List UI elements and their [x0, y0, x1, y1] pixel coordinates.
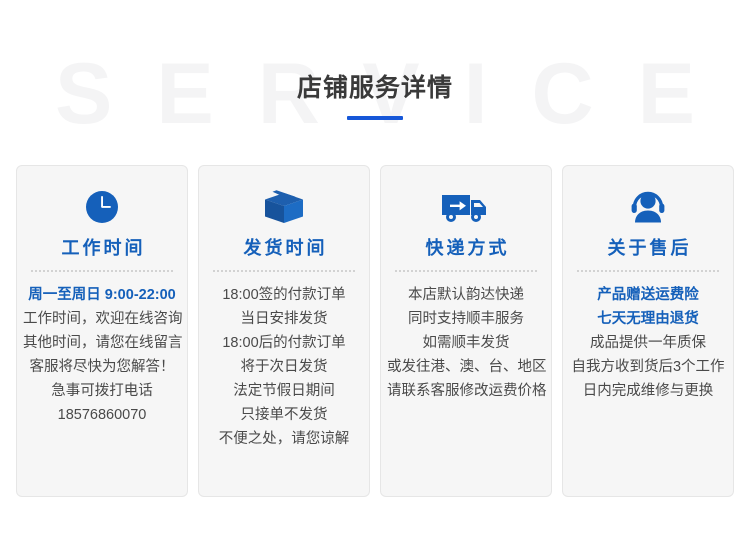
card-line: 成品提供一年质保: [569, 331, 727, 355]
card-body: 18:00签的付款订单 当日安排发货 18:00后的付款订单 将于次日发货 法定…: [205, 283, 363, 451]
card-title: 快递方式: [387, 236, 545, 260]
card-title: 工作时间: [23, 236, 181, 260]
card-line: 当日安排发货: [205, 307, 363, 331]
delivery-truck-icon: [387, 184, 545, 230]
clock-icon: [23, 184, 181, 230]
card-line: 日内完成维修与更换: [569, 379, 727, 403]
card-line: 只接单不发货: [205, 403, 363, 427]
card-line: 产品赠送运费险: [569, 283, 727, 307]
package-box-icon: [205, 184, 363, 230]
card-line: 周一至周日 9:00-22:00: [23, 283, 181, 307]
card-line: 法定节假日期间: [205, 379, 363, 403]
card-line: 18:00后的付款订单: [205, 331, 363, 355]
service-card-shipping-method: 快递方式 本店默认韵达快递 同时支持顺丰服务 如需顺丰发货 或发往港、澳、台、地…: [380, 165, 552, 497]
card-body: 周一至周日 9:00-22:00 工作时间，欢迎在线咨询 其他时间，请您在线留言…: [23, 283, 181, 427]
card-line: 客服将尽快为您解答！: [23, 355, 181, 379]
card-divider: [31, 270, 173, 272]
page-title-block: 店铺服务详情: [0, 72, 750, 120]
service-card-working-hours: 工作时间 周一至周日 9:00-22:00 工作时间，欢迎在线咨询 其他时间，请…: [16, 165, 188, 497]
card-line: 请联系客服修改运费价格: [387, 379, 545, 403]
card-title: 发货时间: [205, 236, 363, 260]
service-card-after-sales: 关于售后 产品赠送运费险 七天无理由退货 成品提供一年质保 自我方收到货后3个工…: [562, 165, 734, 497]
card-divider: [395, 270, 537, 272]
card-body: 产品赠送运费险 七天无理由退货 成品提供一年质保 自我方收到货后3个工作 日内完…: [569, 283, 727, 403]
card-line: 本店默认韵达快递: [387, 283, 545, 307]
card-line: 同时支持顺丰服务: [387, 307, 545, 331]
headset-support-icon: [569, 184, 727, 230]
page-header: SERVICE 店铺服务详情: [0, 0, 750, 150]
card-line: 急事可拨打电话: [23, 379, 181, 403]
service-cards-row: 工作时间 周一至周日 9:00-22:00 工作时间，欢迎在线咨询 其他时间，请…: [16, 165, 734, 497]
card-line: 七天无理由退货: [569, 307, 727, 331]
card-line: 不便之处，请您谅解: [205, 427, 363, 451]
card-divider: [577, 270, 719, 272]
card-line: 工作时间，欢迎在线咨询: [23, 307, 181, 331]
page-title: 店铺服务详情: [0, 72, 750, 104]
service-card-shipping-time: 发货时间 18:00签的付款订单 当日安排发货 18:00后的付款订单 将于次日…: [198, 165, 370, 497]
title-underline: [347, 116, 403, 120]
card-title: 关于售后: [569, 236, 727, 260]
card-line: 或发往港、澳、台、地区: [387, 355, 545, 379]
card-line: 其他时间，请您在线留言: [23, 331, 181, 355]
card-body: 本店默认韵达快递 同时支持顺丰服务 如需顺丰发货 或发往港、澳、台、地区 请联系…: [387, 283, 545, 403]
card-line: 如需顺丰发货: [387, 331, 545, 355]
card-divider: [213, 270, 355, 272]
card-line: 18:00签的付款订单: [205, 283, 363, 307]
card-line: 自我方收到货后3个工作: [569, 355, 727, 379]
card-line: 将于次日发货: [205, 355, 363, 379]
card-line: 18576860070: [23, 403, 181, 427]
